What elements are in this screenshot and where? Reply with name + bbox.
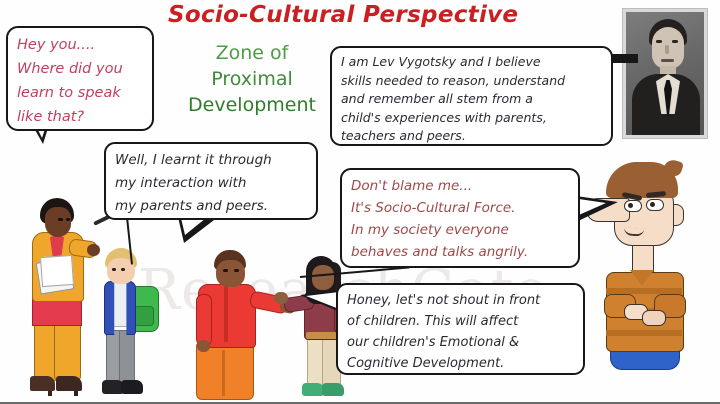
man-red-jacket-placket	[224, 286, 228, 342]
honey-line-2: of children. This will affect	[347, 311, 575, 332]
speech-bubble-honey: Honey, let's not shout in front of child…	[336, 283, 585, 375]
vygotsky-line-2: skills needed to reason, understand	[341, 72, 603, 91]
well-line-1: Well, I learnt it through	[115, 149, 308, 172]
hey-line-1: Hey you....	[17, 33, 144, 57]
figure-schoolboy	[95, 248, 165, 398]
teacher-right-trouser	[54, 318, 81, 382]
man-red-right-eye	[234, 269, 239, 272]
angry-man-hair	[606, 162, 678, 198]
photo-left-eye	[656, 40, 662, 43]
blame-line-1: Don't blame me...	[351, 175, 570, 197]
vygotsky-line-4: child's experiences with parents,	[341, 109, 603, 128]
angry-man-left-eye	[624, 200, 642, 212]
vygotsky-line-5: teachers and peers.	[341, 127, 603, 146]
boy-right-trouser	[119, 330, 135, 386]
illustration-canvas: ResearchGate Socio-Cultural Perspective …	[0, 0, 720, 404]
teacher-left-shoe	[30, 376, 55, 391]
photo-nose	[665, 45, 669, 54]
honey-bubble-tail-fill	[306, 292, 339, 309]
hey-line-2: Where did you	[17, 57, 144, 81]
angry-man-shirt-stripe-3	[606, 330, 682, 336]
zpd-line-3: Development	[178, 92, 326, 118]
hey-line-4: like that?	[17, 105, 144, 129]
honey-line-3: our children's Emotional &	[347, 332, 575, 353]
hey-line-3: learn to speak	[17, 81, 144, 105]
angry-man-left-pupil	[628, 203, 633, 208]
woman-face	[312, 265, 334, 290]
zone-of-proximal-development-label: Zone of Proximal Development	[178, 40, 326, 118]
well-line-3: my parents and peers.	[115, 195, 308, 218]
boy-left-eye	[112, 268, 116, 271]
man-red-trouser-split	[222, 350, 225, 396]
figure-teacher	[14, 198, 100, 398]
speech-bubble-vygotsky: I am Lev Vygotsky and I believe skills n…	[330, 46, 613, 146]
honey-line-1: Honey, let's not shout in front	[347, 290, 575, 311]
boy-backpack-pocket	[134, 306, 154, 326]
speech-bubble-well: Well, I learnt it through my interaction…	[104, 142, 318, 220]
teacher-face	[45, 207, 71, 237]
woman-right-shoe	[322, 383, 344, 396]
well-line-2: my interaction with	[115, 172, 308, 195]
man-red-left-eye	[223, 269, 228, 272]
speech-bubble-blame: Don't blame me... It's Socio-Cultural Fo…	[340, 168, 580, 268]
speech-bubble-hey: Hey you.... Where did you learn to speak…	[6, 26, 154, 131]
man-red-left-arm	[196, 294, 212, 346]
woman-left-hand	[274, 292, 288, 304]
vygotsky-line-3: and remember all stem from a	[341, 90, 603, 109]
teacher-right-eye	[66, 218, 70, 221]
blame-line-4: behaves and talks angrily.	[351, 241, 570, 263]
boy-right-eye	[121, 268, 125, 271]
angry-man-right-eye	[646, 199, 664, 211]
vygotsky-photo-frame	[622, 8, 708, 139]
boy-right-shoe	[121, 380, 143, 394]
zpd-line-1: Zone of	[178, 40, 326, 66]
teacher-left-eye	[58, 218, 63, 221]
teacher-papers-front	[40, 255, 74, 287]
honey-line-4: Cognitive Development.	[347, 353, 575, 374]
vygotsky-line-1: I am Lev Vygotsky and I believe	[341, 53, 603, 72]
zpd-line-2: Proximal	[178, 66, 326, 92]
angry-man-right-pupil	[650, 202, 655, 207]
figure-man-red-jacket	[190, 250, 300, 400]
blame-line-3: In my society everyone	[351, 219, 570, 241]
woman-left-shoe	[302, 383, 324, 396]
angry-man-right-hand	[642, 310, 666, 326]
vygotsky-portrait-image	[626, 12, 704, 135]
man-red-left-hand	[197, 340, 210, 352]
page-title: Socio-Cultural Perspective	[168, 2, 498, 28]
photo-right-eye	[672, 40, 678, 43]
woman-belt	[306, 332, 340, 339]
blame-line-2: It's Socio-Cultural Force.	[351, 197, 570, 219]
man-red-face	[216, 260, 245, 287]
photo-mouth	[661, 59, 674, 62]
teacher-right-shoe	[56, 376, 82, 391]
